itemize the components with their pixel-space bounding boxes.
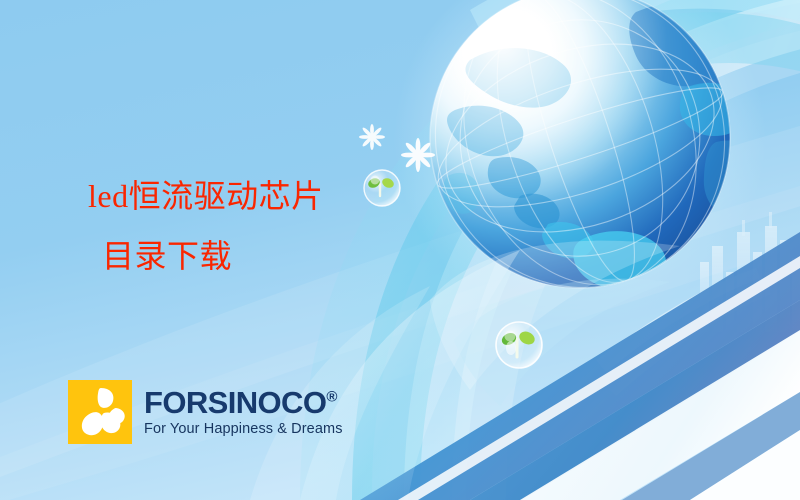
light-trail-1 (596, 268, 760, 372)
ribbon-band-outer (300, 0, 800, 500)
white-swoosh-lower (300, 250, 520, 500)
ribbon-band-inner (452, 14, 800, 500)
registered-trademark-icon: ® (326, 388, 336, 405)
ribbon-top-right-2 (500, 12, 800, 122)
landmass-north-america (629, 3, 738, 86)
globe-reflection-crescent (430, 241, 680, 390)
landmass-australia (573, 231, 666, 290)
bubble-with-green-sprout-lower (496, 322, 542, 368)
globe-rim (430, 0, 730, 288)
diagonal-band-white (520, 330, 800, 500)
pinwheel-petals-icon (68, 380, 132, 444)
diagonal-band-blue (360, 232, 800, 500)
diagonal-corner-white (690, 430, 800, 500)
landmass-africa (443, 173, 480, 214)
diagonal-band-deep (470, 300, 800, 500)
landmass-indochina (514, 194, 560, 229)
globe-longitude-lines (397, 0, 764, 325)
globe-sphere (430, 0, 730, 288)
globe-halo (394, 0, 766, 324)
forsinoco-pinwheel-flower-mark (68, 380, 132, 444)
landmass-central-america (680, 83, 747, 136)
ribbon-top-right-1 (470, 0, 800, 70)
logo-wordmark-text: FORSINOCO (144, 385, 326, 420)
landmass-south-america (704, 140, 767, 216)
globe-highlight (430, 0, 730, 288)
globe-surface (397, 0, 767, 325)
diagonal-band-indigo (622, 392, 800, 500)
diagonal-pinstripe-upper (398, 256, 800, 500)
white-daisy-large (401, 138, 435, 172)
light-trail-2 (606, 286, 771, 396)
logo-wordmark: FORSINOCO® (144, 387, 343, 419)
bubble-with-green-sprout-upper (364, 170, 400, 206)
city-skyline-silhouette (700, 212, 800, 332)
headline-line-1: led恒流驱动芯片 (88, 178, 324, 214)
poster-canvas: led恒流驱动芯片 目录下载 FORSINOCO® For Your Happi… (0, 0, 800, 500)
logo-tagline: For Your Happiness & Dreams (144, 420, 343, 438)
landmass-eurasia (465, 48, 571, 107)
headline-line-2: 目录下载 (88, 226, 324, 286)
landmass-indonesia (542, 222, 593, 258)
globe-reflection-crescent-2 (454, 279, 670, 406)
globe-latitude-lines (422, 0, 739, 287)
company-logo: FORSINOCO® For Your Happiness & Dreams (68, 380, 343, 444)
ribbon-band-white (404, 0, 800, 500)
landmass-asia-south (447, 106, 523, 157)
logo-text-block: FORSINOCO® For Your Happiness & Dreams (144, 387, 343, 438)
landmass-india (488, 157, 541, 198)
ribbon-band-cyan (352, 0, 800, 500)
white-daisy-small (359, 124, 385, 150)
headline-text: led恒流驱动芯片 目录下载 (88, 166, 324, 286)
